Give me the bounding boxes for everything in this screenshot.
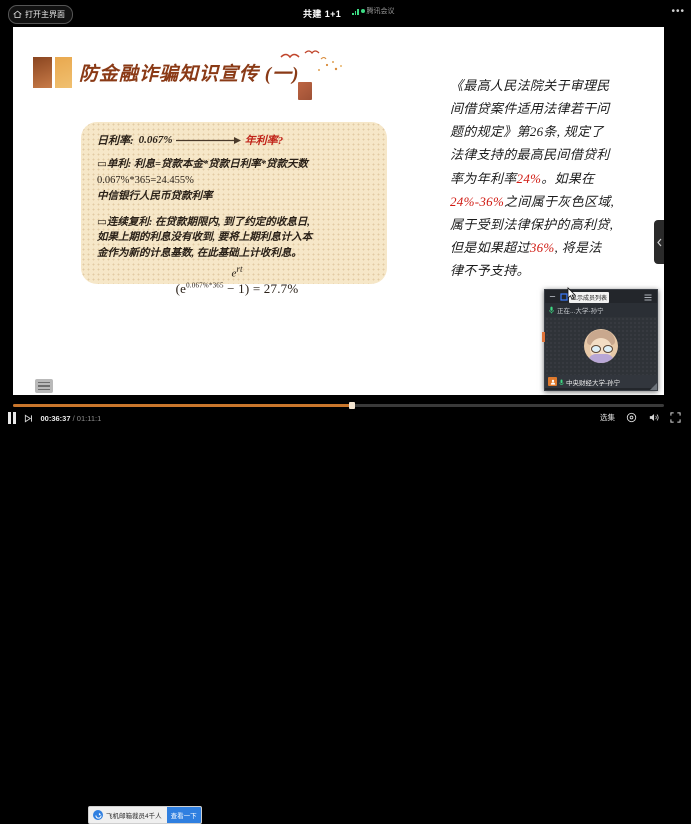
current-time: 00:36:37 — [41, 414, 71, 423]
formula-exponent: 0.067%*365 — [186, 281, 224, 289]
meeting-app-badge: 腾讯会议 — [352, 6, 395, 16]
formula-rt-exponent: rt — [236, 264, 242, 274]
progress-bar-handle[interactable] — [349, 402, 355, 409]
mouse-cursor-icon — [567, 287, 576, 300]
title-tile-dark — [33, 57, 52, 88]
rate-range-highlight: 24%-36% — [450, 194, 504, 209]
compound-marker: ▭ — [97, 217, 107, 228]
legal-line-8-c: , 将是法 — [555, 240, 602, 255]
speaker-avatar-icon — [548, 377, 557, 386]
daily-rate-line: 日利率: 0.067% 年利率? — [97, 132, 377, 148]
legal-line-4: 法律支持的最高民间借贷利 — [450, 143, 655, 166]
progress-bar-track[interactable] — [13, 404, 664, 407]
microphone-small-icon — [559, 373, 564, 391]
simple-interest-marker: ▭ — [97, 159, 107, 170]
flying-birds-decoration-icon — [275, 45, 345, 79]
slide-list-icon[interactable] — [35, 379, 53, 393]
meeting-app-name: 腾讯会议 — [367, 6, 395, 16]
legal-line-6: 24%-36%之间属于灰色区域, — [450, 190, 655, 213]
news-toast-button[interactable]: 查看一下 — [167, 807, 201, 823]
compound-title: 连续复利: 在贷款期限内, 到了约定的收息日, — [107, 217, 310, 228]
slide-title-block: 防金融诈骗知识宣传 (一) — [33, 55, 299, 89]
red-seal-stamp-icon — [298, 82, 312, 100]
news-source-icon — [93, 810, 103, 820]
annual-rate-question: 年利率? — [245, 132, 284, 148]
screen-root: 打开主界面 共建 1+1 腾讯会议 ••• 防金融诈骗知识宣传 (一) — [0, 0, 691, 432]
open-main-interface-label: 打开主界面 — [25, 9, 65, 20]
meeting-title: 共建 1+1 — [303, 7, 341, 20]
top-bar: 打开主界面 共建 1+1 腾讯会议 ••• — [0, 0, 691, 27]
simple-interest-calc: 0.067%*365=24.455% — [97, 173, 377, 188]
compound-interest-block: ▭连续复利: 在贷款期限内, 到了约定的收息日, 如果上期的利息没有收到, 要将… — [97, 215, 377, 262]
resize-handle-icon[interactable] — [650, 383, 657, 390]
simple-interest-title: ▭单利: 利息=贷款本金*贷款日利率*贷款天数 — [97, 157, 377, 172]
minimize-icon[interactable] — [549, 293, 556, 300]
player-left-controls: 00:36:37 / 01:11:1 — [8, 412, 101, 424]
chevron-left-icon[interactable] — [654, 220, 664, 264]
online-status-dot — [361, 9, 365, 13]
video-player-bar: 00:36:37 / 01:11:1 飞机邮箱裁员4千人 查看一下 选集 — [0, 395, 691, 432]
simple-interest-text: 单利: 利息=贷款本金*贷款日利率*贷款天数 — [107, 159, 308, 170]
news-toast-notification[interactable]: 飞机邮箱裁员4千人 查看一下 — [88, 806, 202, 824]
formula-open: (e — [176, 281, 187, 296]
news-toast-text: 飞机邮箱裁员4千人 — [106, 810, 167, 820]
legal-line-1: 《最高人民法院关于审理民 — [450, 74, 655, 97]
legal-line-7: 属于受到法律保护的高利贷, — [450, 213, 655, 236]
meeting-window-titlebar: 显示成员列表 — [545, 290, 657, 303]
playback-time: 00:36:37 / 01:11:1 — [41, 414, 102, 423]
open-main-interface-button[interactable]: 打开主界面 — [8, 5, 73, 24]
progress-bar-fill — [13, 404, 352, 407]
pause-icon[interactable] — [8, 412, 16, 424]
formula-ert: ert — [97, 264, 377, 280]
legal-line-5: 率为年利率24%。如果在 — [450, 167, 655, 190]
legal-line-8: 但是如果超过36%, 将是法 — [450, 236, 655, 259]
player-right-controls: 选集 — [600, 412, 681, 423]
compound-line-2: 如果上期的利息没有收到, 要将上期利息计入本 — [97, 230, 377, 246]
bank-rate-line: 中信银行人民币贷款利率 — [97, 189, 377, 204]
content-card: 日利率: 0.067% 年利率? ▭单利: 利息=贷款本金*贷款日利率*贷款天数… — [81, 122, 387, 284]
meeting-floating-window[interactable]: 显示成员列表 正在...大学-孙宁 中央财经 — [544, 289, 658, 391]
daily-rate-label: 日利率: — [97, 132, 134, 148]
formula-tail: − 1) = 27.7% — [224, 281, 299, 296]
participant-video-area[interactable] — [545, 317, 657, 375]
signal-strength-icon — [352, 8, 359, 15]
compound-line-3: 金作为新的计息基数, 在此基础上计收利息。 — [97, 246, 377, 262]
episodes-button[interactable]: 选集 — [600, 412, 615, 423]
rate-36-highlight: 36% — [530, 240, 555, 255]
daily-rate-value: 0.067% — [139, 134, 173, 146]
settings-gear-icon[interactable] — [626, 412, 637, 423]
participant-name: 中央财经大学-孙宁 — [566, 377, 620, 387]
fullscreen-icon[interactable] — [670, 412, 681, 423]
legal-line-3: 题的规定》第26条, 规定了 — [450, 120, 655, 143]
page-title: 防金融诈骗知识宣传 (一) — [79, 59, 299, 86]
more-options-icon[interactable]: ••• — [671, 9, 685, 15]
home-icon — [13, 10, 22, 19]
total-time: 01:11:1 — [77, 414, 101, 423]
rate-24-highlight: 24% — [517, 171, 542, 186]
next-track-icon[interactable] — [24, 414, 33, 423]
legal-line-5-c: 。如果在 — [541, 171, 594, 186]
legal-line-5-a: 率为年利率 — [450, 171, 517, 186]
legal-explanation-text: 《最高人民法院关于审理民 间借贷案件适用法律若干问 题的规定》第26条, 规定了… — [450, 74, 655, 282]
title-tile-light — [55, 57, 72, 88]
legal-line-6-b: 之间属于灰色区域, — [504, 194, 614, 209]
meeting-status-text: 正在...大学-孙宁 — [557, 305, 604, 315]
legal-line-2: 间借贷案件适用法律若干问 — [450, 97, 655, 120]
presentation-stage: 防金融诈骗知识宣传 (一) 日利率: 0.067% — [13, 27, 664, 395]
hamburger-menu-icon[interactable] — [644, 294, 652, 301]
legal-line-9: 律不予支持。 — [450, 259, 655, 282]
participant-name-bar: 中央财经大学-孙宁 — [545, 375, 657, 388]
volume-icon[interactable] — [648, 412, 659, 423]
meeting-status-bar: 正在...大学-孙宁 — [545, 303, 657, 317]
formula-result: (e0.067%*365 − 1) = 27.7% — [97, 281, 377, 297]
long-right-arrow-icon — [176, 136, 242, 145]
participant-avatar — [584, 329, 618, 363]
legal-line-8-a: 但是如果超过 — [450, 240, 530, 255]
